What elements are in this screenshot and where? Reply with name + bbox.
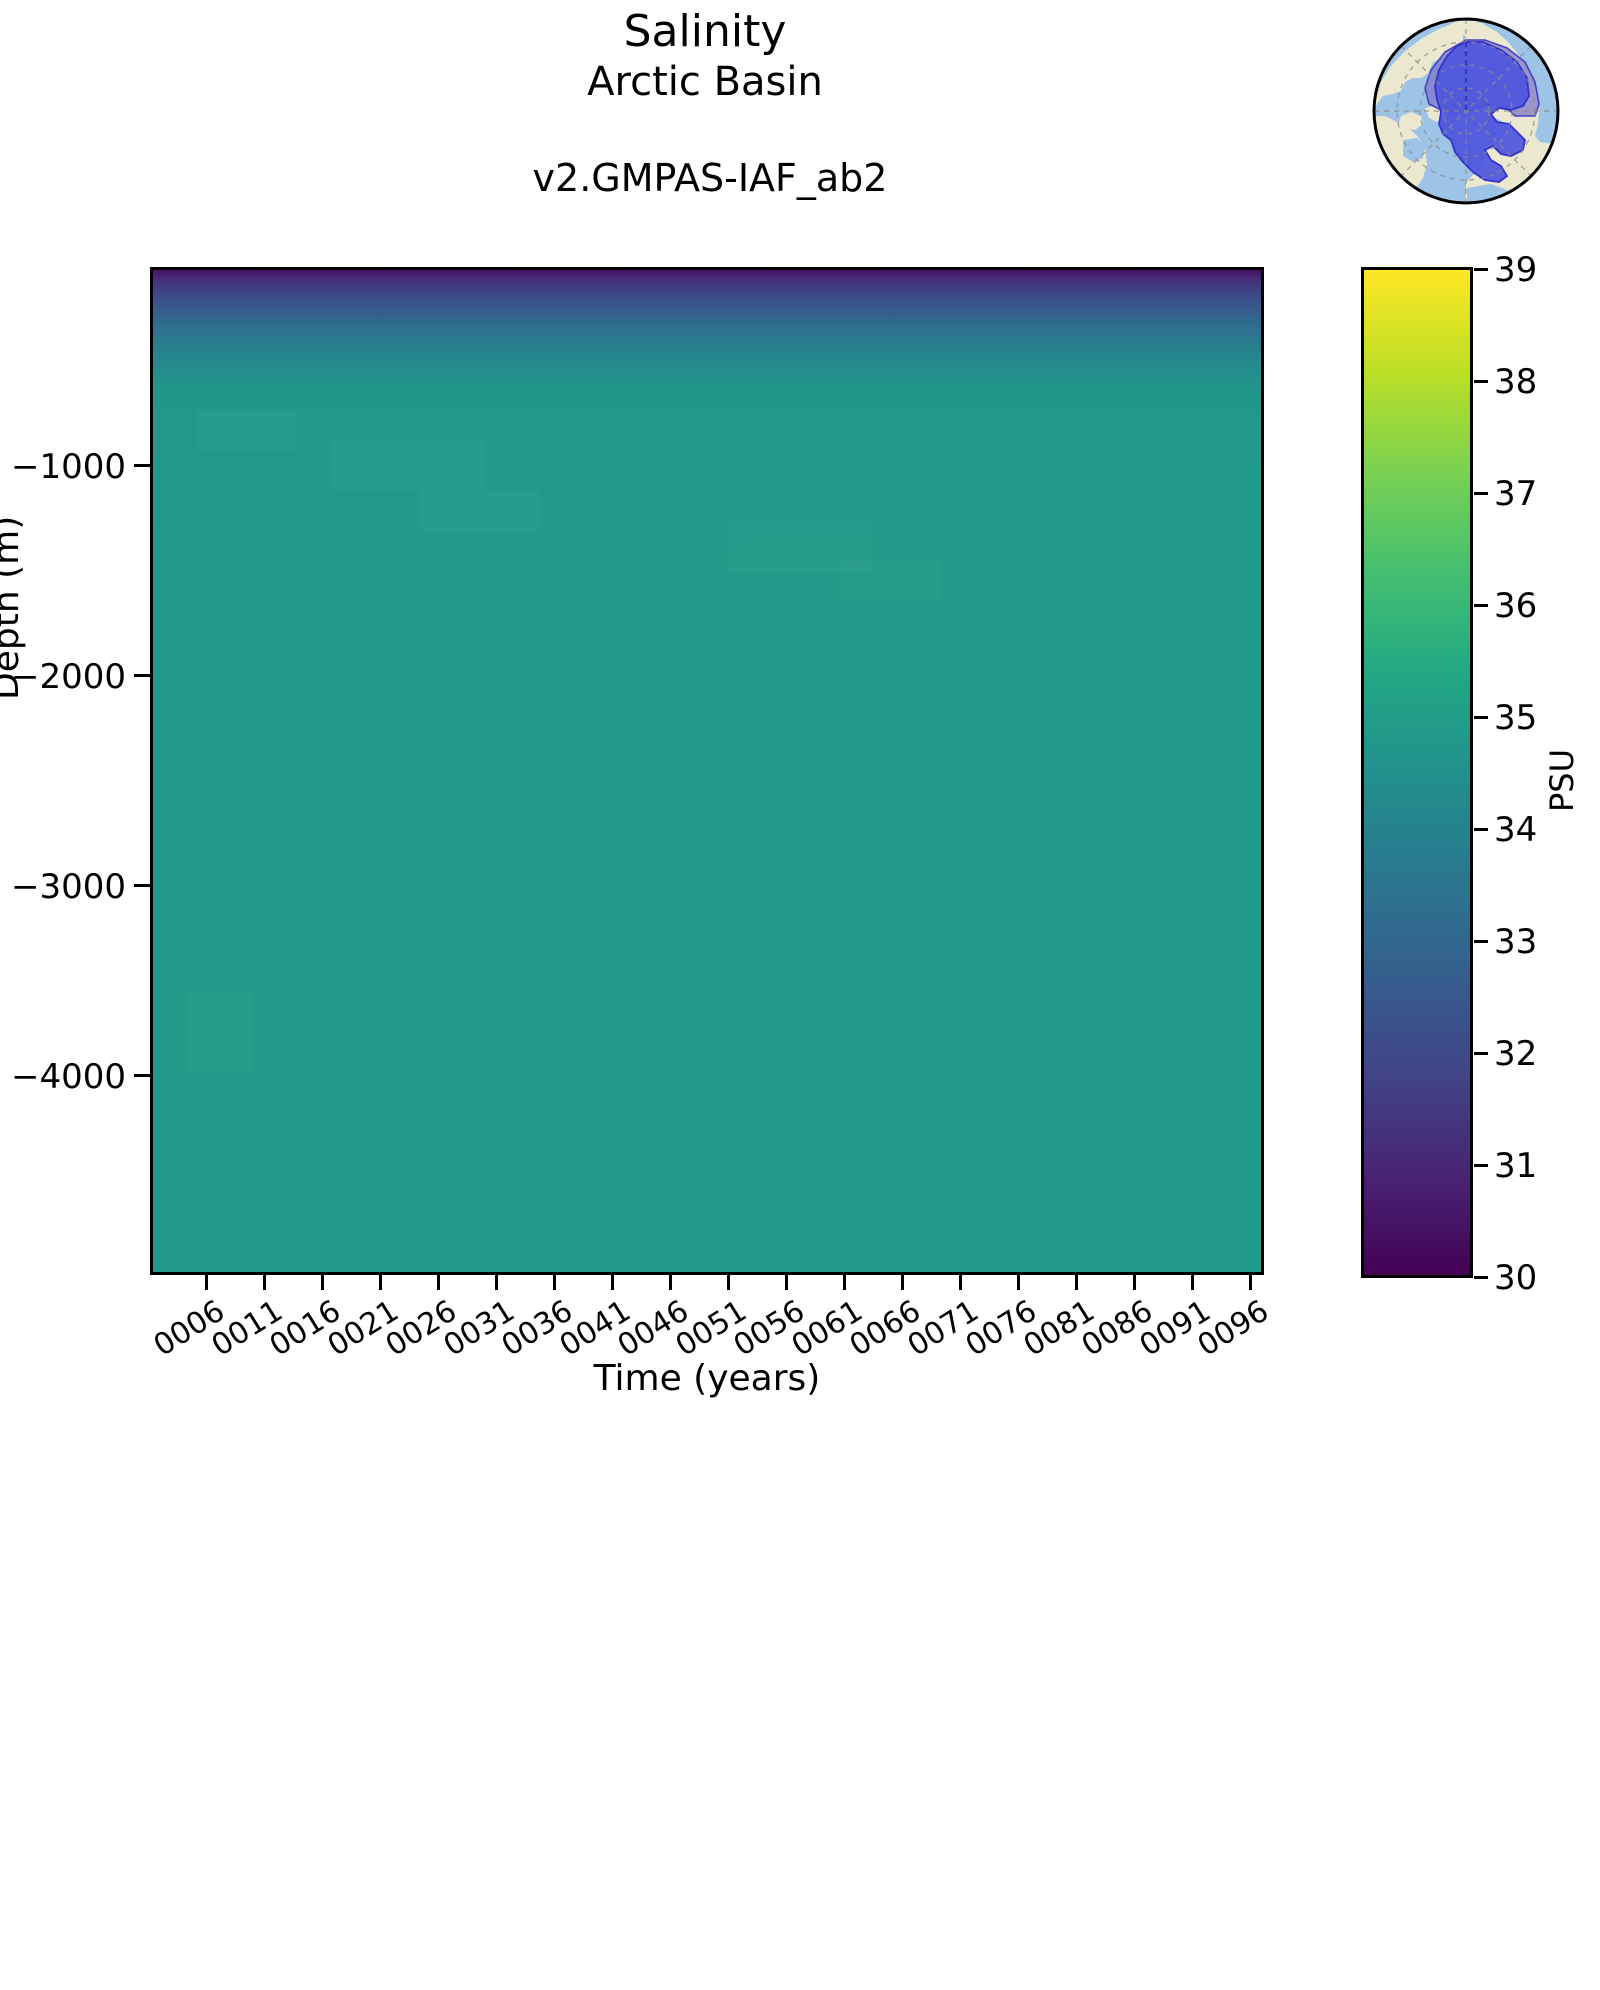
- y-tick-mark: [134, 464, 150, 467]
- colorbar-tick-mark: [1474, 268, 1488, 271]
- x-tick-mark: [611, 1275, 614, 1290]
- figure-title-block: Salinity Arctic Basin: [0, 6, 1410, 106]
- x-tick-mark: [1191, 1275, 1194, 1290]
- colorbar-tick-mark: [1474, 1276, 1488, 1279]
- page-title: Salinity: [0, 6, 1410, 58]
- x-axis-title: Time (years): [150, 1358, 1264, 1399]
- x-tick-mark: [495, 1275, 498, 1290]
- land-scandinavia: [1513, 154, 1557, 200]
- x-tick-mark: [205, 1275, 208, 1290]
- colorbar-tick-label: 31: [1494, 1149, 1537, 1183]
- colorbar-tick-label: 34: [1494, 813, 1537, 847]
- x-tick-mark: [727, 1275, 730, 1290]
- salinity-depth-time-heatmap[interactable]: [150, 267, 1264, 1275]
- y-tick-mark: [134, 884, 150, 887]
- surface-halocline-gradient: [153, 270, 1261, 390]
- colorbar-tick-label: 32: [1494, 1037, 1537, 1071]
- colorbar-tick-label: 30: [1494, 1261, 1537, 1295]
- colorbar-tick-mark: [1474, 604, 1488, 607]
- x-tick-mark: [321, 1275, 324, 1290]
- x-tick-mark: [901, 1275, 904, 1290]
- colorbar-tick-label: 39: [1494, 253, 1537, 287]
- colorbar-tick-mark: [1474, 1052, 1488, 1055]
- colorbar-tick-mark: [1474, 716, 1488, 719]
- x-tick-mark: [1017, 1275, 1020, 1290]
- colorbar-gradient: [1364, 270, 1470, 1275]
- run-name-label: v2.GMPAS-IAF_ab2: [0, 155, 1420, 201]
- colorbar-tick-mark: [1474, 828, 1488, 831]
- x-tick-mark: [1133, 1275, 1136, 1290]
- x-tick-mark: [843, 1275, 846, 1290]
- colorbar-tick-label: 36: [1494, 589, 1537, 623]
- x-tick-mark: [379, 1275, 382, 1290]
- x-tick-mark: [1075, 1275, 1078, 1290]
- y-tick-label: −3000: [11, 870, 126, 904]
- colorbar[interactable]: [1361, 267, 1473, 1278]
- region-subtitle: Arctic Basin: [0, 58, 1410, 106]
- colorbar-tick-label: 37: [1494, 477, 1537, 511]
- polar-map-svg: [1367, 12, 1565, 210]
- y-tick-mark: [134, 674, 150, 677]
- colorbar-tick-label: 35: [1494, 701, 1537, 735]
- colorbar-tick-mark: [1474, 380, 1488, 383]
- colorbar-tick-mark: [1474, 1164, 1488, 1167]
- y-tick-label: −2000: [11, 660, 126, 694]
- y-tick-label: −4000: [11, 1060, 126, 1094]
- colorbar-tick-mark: [1474, 940, 1488, 943]
- colorbar-tick-label: 38: [1494, 365, 1537, 399]
- x-tick-mark: [669, 1275, 672, 1290]
- x-tick-mark: [263, 1275, 266, 1290]
- x-tick-mark: [553, 1275, 556, 1290]
- y-tick-mark: [134, 1074, 150, 1077]
- x-tick-mark: [437, 1275, 440, 1290]
- colorbar-title: PSU: [1543, 749, 1581, 812]
- arctic-region-inset-map: [1367, 12, 1565, 210]
- colorbar-tick-label: 33: [1494, 925, 1537, 959]
- heatmap-field: [153, 270, 1261, 1272]
- y-axis-title: Depth (m): [0, 516, 27, 700]
- x-tick-mark: [1249, 1275, 1252, 1290]
- x-tick-mark: [785, 1275, 788, 1290]
- colorbar-tick-mark: [1474, 492, 1488, 495]
- x-tick-mark: [959, 1275, 962, 1290]
- y-tick-label: −1000: [11, 450, 126, 484]
